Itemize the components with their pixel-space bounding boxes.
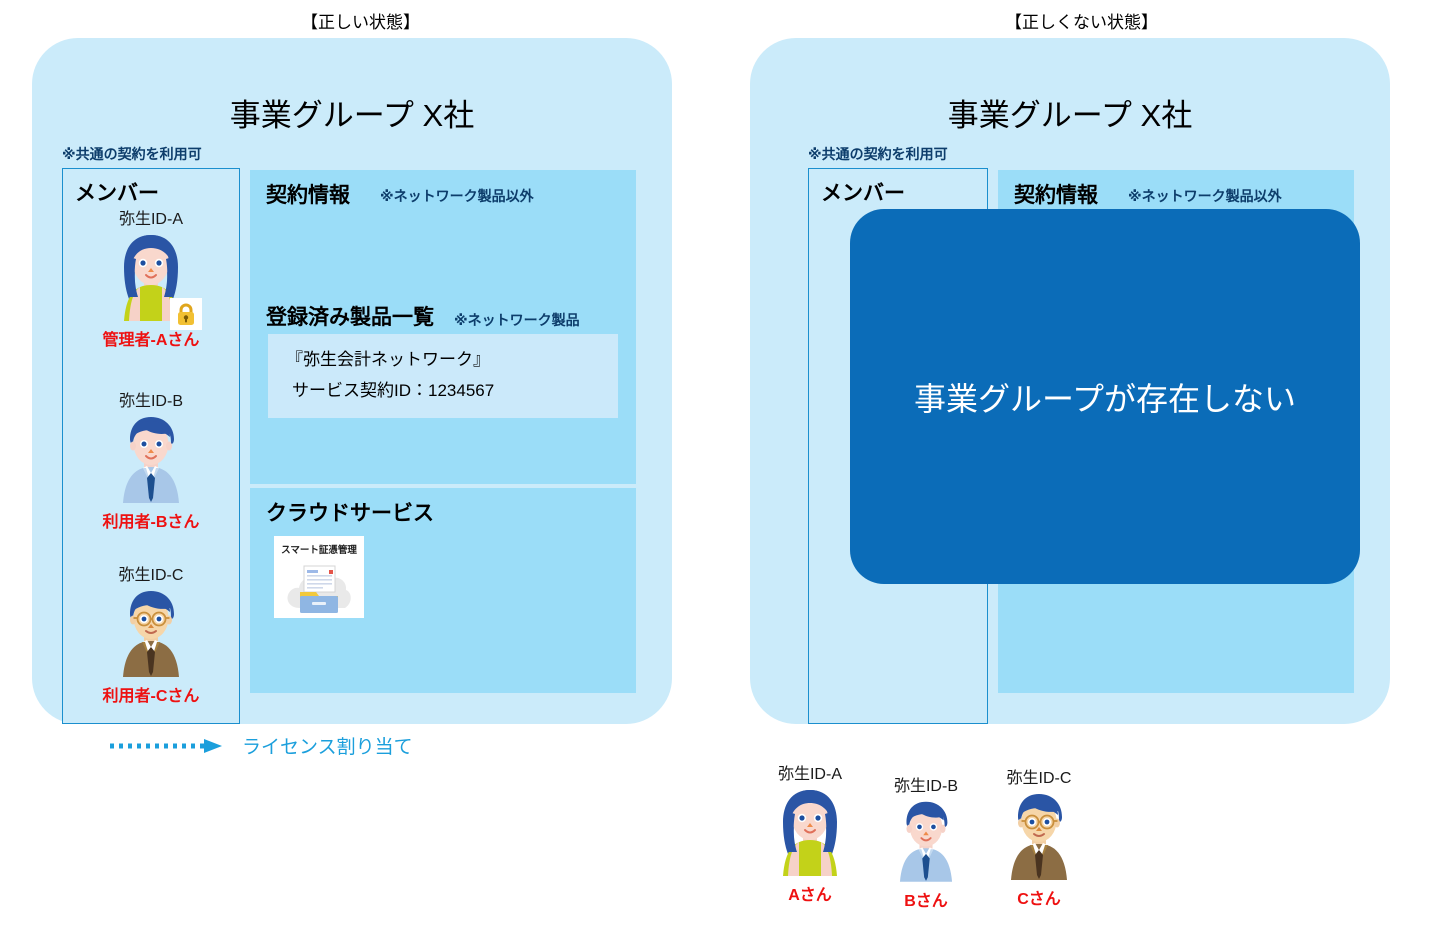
product-entry[interactable]: 『弥生会計ネットワーク』 サービス契約ID：1234567 <box>268 334 618 418</box>
member-id-b: 弥生ID-B <box>63 393 239 411</box>
right-group-card: 事業グループ X社 ※共通の契約を利用可 メンバー 契約情報 ※ネットワーク製品… <box>750 38 1390 724</box>
member-role-c: 利用者-Cさん <box>63 688 239 706</box>
orphan-person-name-c: Cさん <box>985 891 1093 909</box>
left-panel-caption: 【正しい状態】 <box>0 8 721 33</box>
cloud-service-label: スマート証憑管理 <box>274 542 364 556</box>
product-name: 『弥生会計ネットワーク』 <box>286 344 618 375</box>
group-missing-text: 事業グループが存在しない <box>914 374 1296 420</box>
product-contract-id: サービス契約ID：1234567 <box>286 375 618 406</box>
orphan-person-b[interactable]: 弥生ID-B Bさん <box>872 778 980 910</box>
member-entry-c[interactable]: 弥生ID-C <box>63 567 239 705</box>
avatar-man-brown-suit-glasses <box>996 867 1082 884</box>
left-cloud-panel: クラウドサービス スマート証憑管理 <box>250 488 636 693</box>
right-group-note: ※共通の契約を利用可 <box>808 144 948 164</box>
left-group-title: 事業グループ X社 <box>32 90 672 135</box>
left-contract-note: ※ネットワーク製品以外 <box>380 186 534 206</box>
license-assign-label: ライセンス割り当て <box>242 732 413 759</box>
cloud-service-tile[interactable]: スマート証憑管理 <box>274 536 364 618</box>
lock-icon <box>170 298 202 330</box>
avatar-woman-green <box>108 229 194 326</box>
left-products-heading: 登録済み製品一覧 <box>266 301 434 331</box>
orphan-person-name-a: Aさん <box>756 887 864 905</box>
right-contract-heading: 契約情報 <box>1014 179 1098 209</box>
left-member-heading: メンバー <box>75 177 159 207</box>
avatar-woman-green <box>767 863 853 880</box>
avatar-man-lightblue-suit <box>108 411 194 508</box>
member-role-a: 管理者-Aさん <box>63 332 239 350</box>
member-role-b: 利用者-Bさん <box>63 514 239 532</box>
smart-receipt-cloud-icon <box>282 556 356 619</box>
license-assign-legend: ライセンス割り当て <box>108 732 528 762</box>
left-products-panel: 登録済み製品一覧 ※ネットワーク製品 『弥生会計ネットワーク』 サービス契約ID… <box>250 292 636 484</box>
avatar-man-brown-suit-glasses <box>108 585 194 682</box>
left-group-note: ※共通の契約を利用可 <box>62 144 202 164</box>
orphan-person-id-c: 弥生ID-C <box>985 770 1093 788</box>
orphan-person-a[interactable]: 弥生ID-A Aさん <box>756 766 864 904</box>
left-contract-heading: 契約情報 <box>266 179 350 209</box>
right-member-heading: メンバー <box>821 177 905 207</box>
member-entry-b[interactable]: 弥生ID-B <box>63 393 239 531</box>
member-id-a: 弥生ID-A <box>63 211 239 229</box>
member-id-c: 弥生ID-C <box>63 567 239 585</box>
avatar-man-lightblue-suit <box>886 869 966 886</box>
left-member-box: メンバー 弥生ID-A <box>62 168 240 724</box>
orphan-people-row: 弥生ID-A Aさん 弥生ID-B <box>750 766 1090 938</box>
orphan-person-id-b: 弥生ID-B <box>872 778 980 796</box>
member-entry-a[interactable]: 弥生ID-A <box>63 211 239 349</box>
left-group-card: 事業グループ X社 ※共通の契約を利用可 メンバー 弥生ID-A <box>32 38 672 724</box>
left-products-note: ※ネットワーク製品 <box>454 310 580 330</box>
right-panel-caption: 【正しくない状態】 <box>721 8 1442 33</box>
orphan-person-name-b: Bさん <box>872 893 980 911</box>
group-missing-overlay: 事業グループが存在しない <box>850 209 1360 584</box>
left-cloud-heading: クラウドサービス <box>266 497 434 527</box>
orphan-person-c[interactable]: 弥生ID-C <box>985 770 1093 908</box>
right-contract-note: ※ネットワーク製品以外 <box>1128 186 1282 206</box>
orphan-person-id-a: 弥生ID-A <box>756 766 864 784</box>
right-group-title: 事業グループ X社 <box>750 90 1390 135</box>
dotted-arrow-right-icon <box>108 738 226 759</box>
